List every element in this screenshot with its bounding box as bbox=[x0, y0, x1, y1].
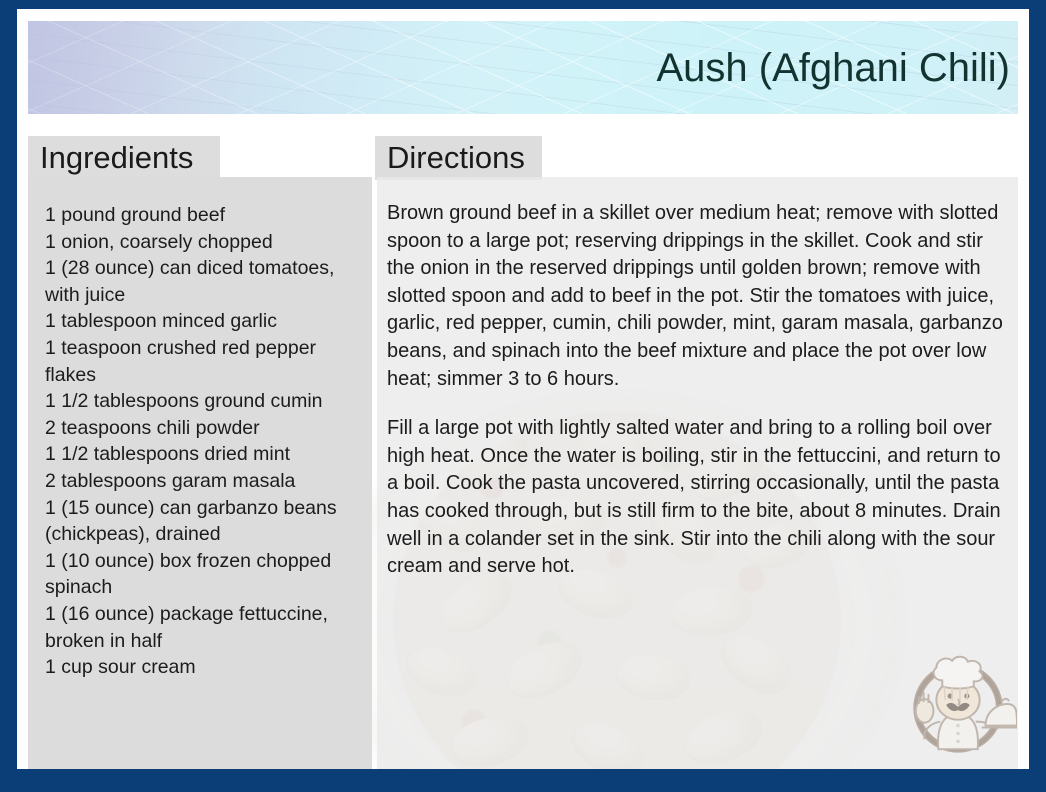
recipe-card-page: Aush (Afghani Chili) bbox=[0, 0, 1046, 792]
list-item: 1 1/2 tablespoons dried mint bbox=[45, 441, 358, 468]
list-item: 1 (10 ounce) box frozen chopped spinach bbox=[45, 548, 358, 601]
list-item: 2 tablespoons garam masala bbox=[45, 468, 358, 495]
section-heading-ingredients: Ingredients bbox=[28, 136, 220, 180]
list-item: 1 tablespoon minced garlic bbox=[45, 308, 358, 335]
ingredients-panel: 1 pound ground beef 1 onion, coarsely ch… bbox=[28, 177, 372, 769]
list-item: 1 (16 ounce) package fettuccine, broken … bbox=[45, 601, 358, 654]
direction-paragraph: Fill a large pot with lightly salted wat… bbox=[387, 415, 1004, 581]
section-heading-directions: Directions bbox=[375, 136, 542, 180]
list-item: 1 onion, coarsely chopped bbox=[45, 229, 358, 256]
list-item: 1 teaspoon crushed red pepper flakes bbox=[45, 335, 358, 388]
list-item: 1 cup sour cream bbox=[45, 654, 358, 681]
list-item: 2 teaspoons chili powder bbox=[45, 415, 358, 442]
page-title: Aush (Afghani Chili) bbox=[657, 47, 1011, 89]
list-item: 1 1/2 tablespoons ground cumin bbox=[45, 388, 358, 415]
list-item: 1 (15 ounce) can garbanzo beans (chickpe… bbox=[45, 495, 358, 548]
ingredient-list: 1 pound ground beef 1 onion, coarsely ch… bbox=[45, 202, 358, 681]
list-item: 1 (28 ounce) can diced tomatoes, with ju… bbox=[45, 255, 358, 308]
header-banner: Aush (Afghani Chili) bbox=[28, 21, 1018, 114]
list-item: 1 pound ground beef bbox=[45, 202, 358, 229]
direction-paragraph: Brown ground beef in a skillet over medi… bbox=[387, 200, 1004, 393]
recipe-sheet: Aush (Afghani Chili) bbox=[17, 9, 1029, 769]
chef-logo-icon bbox=[899, 643, 1017, 761]
